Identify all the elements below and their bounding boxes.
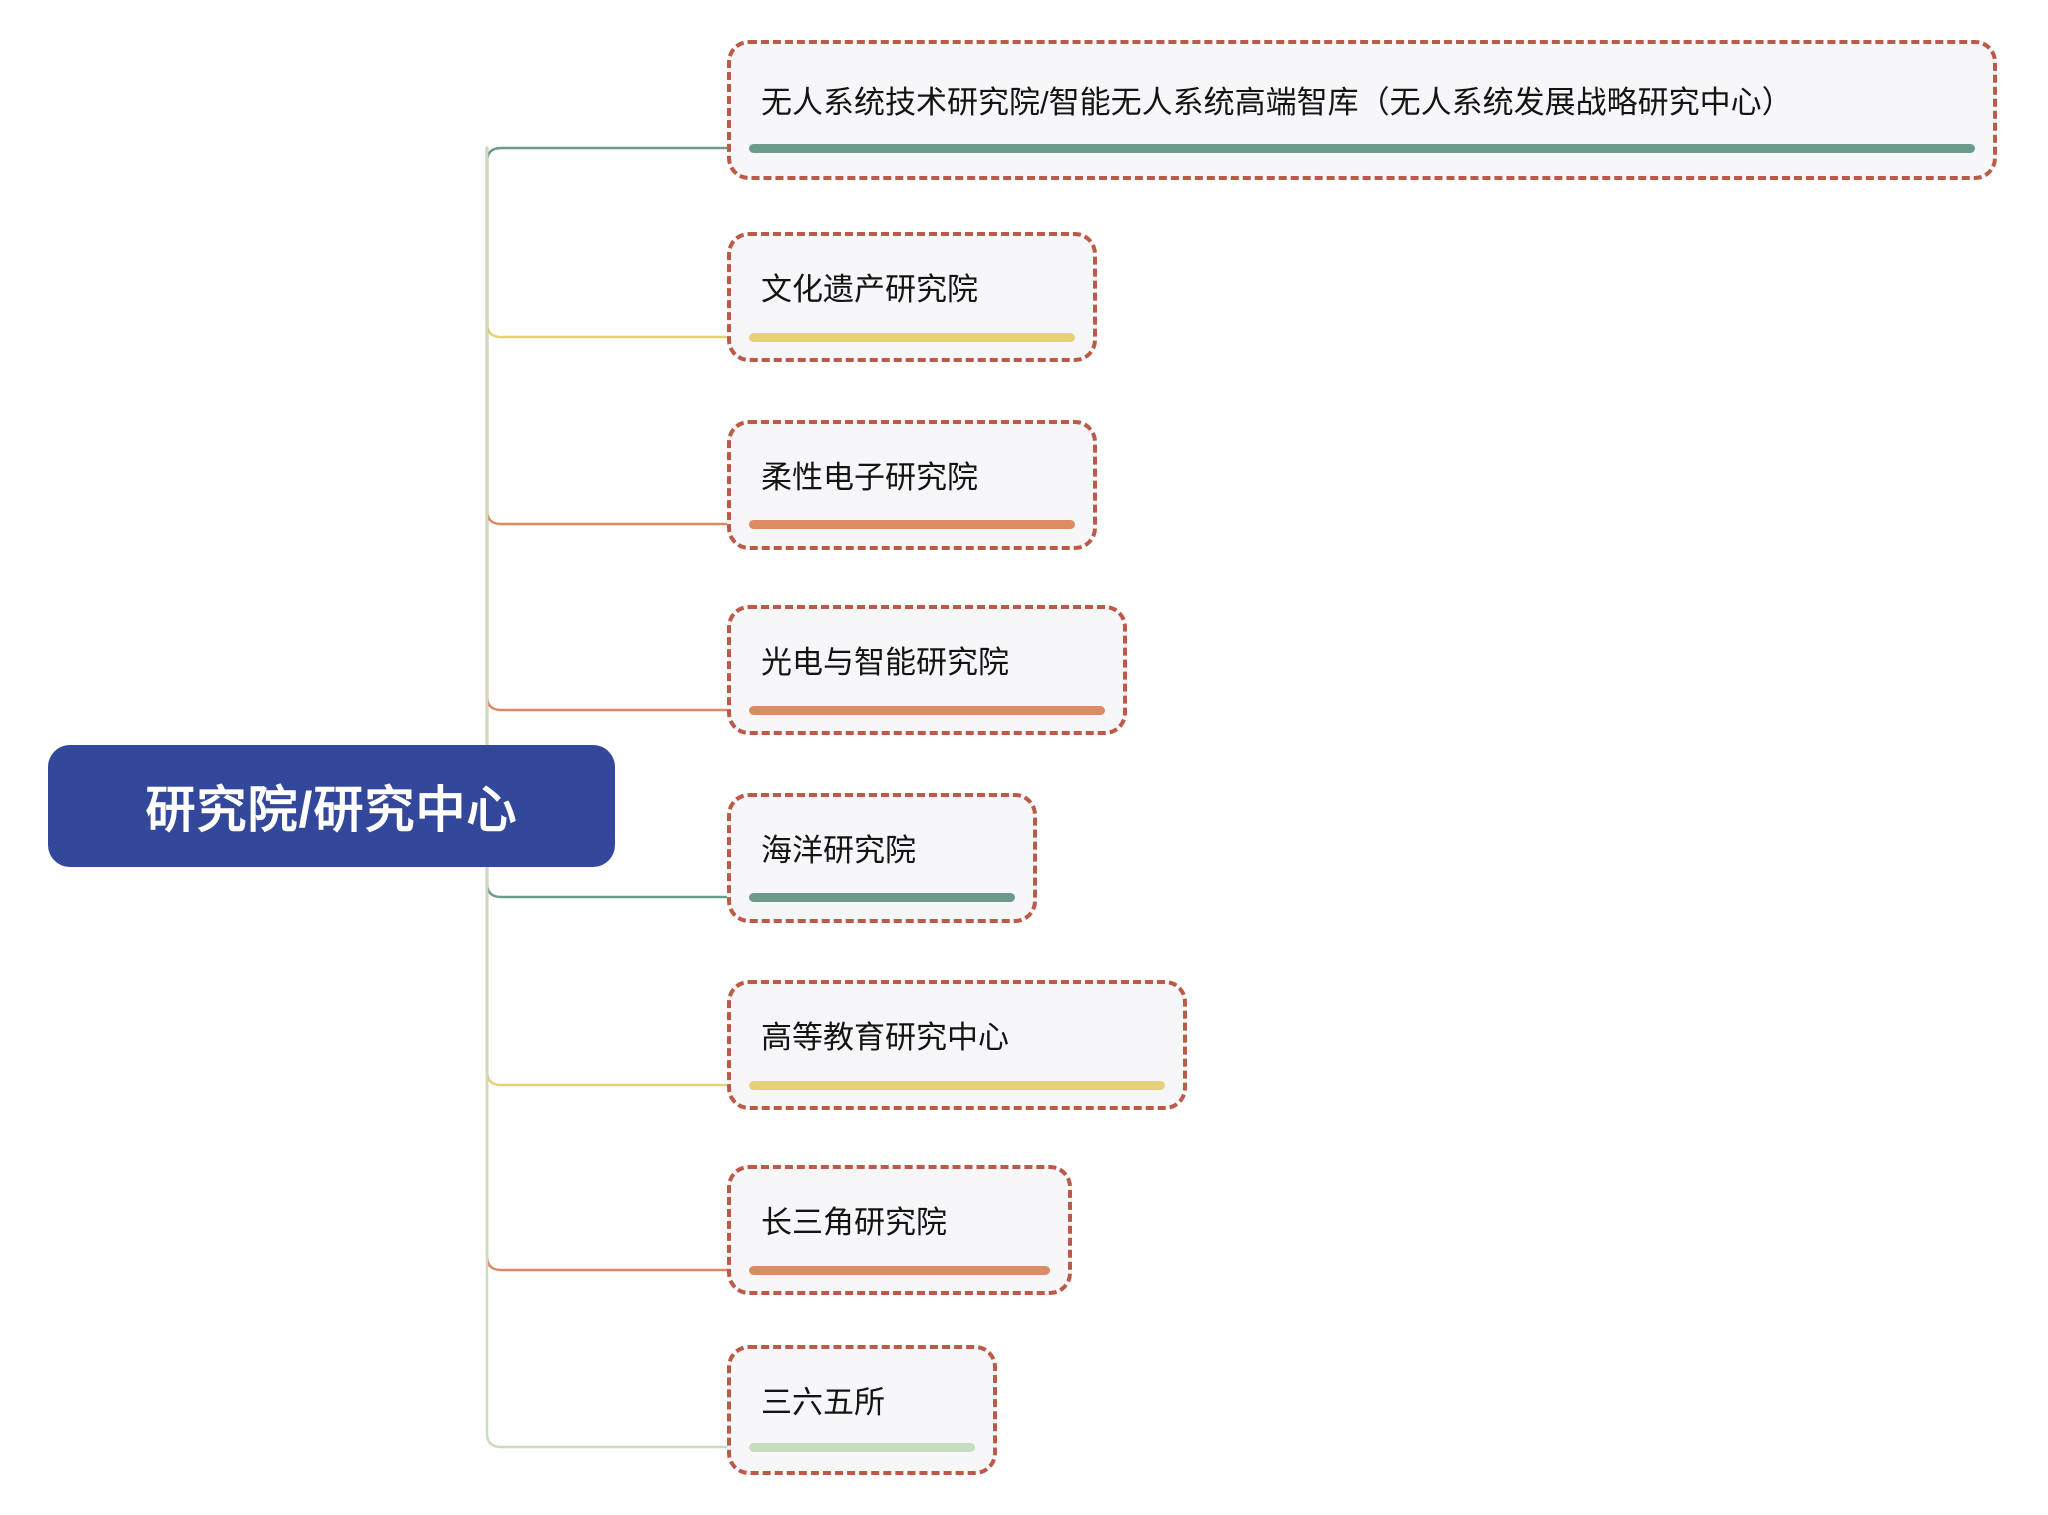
child-node-accent-bar xyxy=(749,1266,1050,1275)
child-node-institute-365[interactable]: 三六五所 xyxy=(727,1345,997,1475)
child-node-accent-bar xyxy=(749,520,1075,529)
child-node-body: 无人系统技术研究院/智能无人系统高端智库（无人系统发展战略研究中心） xyxy=(735,48,1989,172)
child-node-label: 高等教育研究中心 xyxy=(761,988,1161,1080)
connector-cultural-heritage xyxy=(487,148,755,337)
child-node-unmanned-systems[interactable]: 无人系统技术研究院/智能无人系统高端智库（无人系统发展战略研究中心） xyxy=(727,40,1997,180)
child-node-label: 无人系统技术研究院/智能无人系统高端智库（无人系统发展战略研究中心） xyxy=(761,48,1971,150)
child-node-optoelectronics-intelligence[interactable]: 光电与智能研究院 xyxy=(727,605,1127,735)
child-node-label: 海洋研究院 xyxy=(761,801,1011,893)
mindmap-canvas: 研究院/研究中心 无人系统技术研究院/智能无人系统高端智库（无人系统发展战略研究… xyxy=(0,0,2048,1515)
child-node-accent-bar xyxy=(749,333,1075,342)
connector-higher-education xyxy=(487,148,755,1085)
child-node-accent-bar xyxy=(749,144,1975,153)
connector-unmanned-systems xyxy=(487,148,755,162)
connector-yangtze-delta xyxy=(487,148,755,1270)
child-node-ocean[interactable]: 海洋研究院 xyxy=(727,793,1037,923)
child-node-label: 长三角研究院 xyxy=(761,1173,1046,1265)
child-node-accent-bar xyxy=(749,706,1105,715)
child-node-higher-education[interactable]: 高等教育研究中心 xyxy=(727,980,1187,1110)
child-node-flexible-electronics[interactable]: 柔性电子研究院 xyxy=(727,420,1097,550)
child-node-accent-bar xyxy=(749,1081,1165,1090)
child-node-label: 柔性电子研究院 xyxy=(761,428,1071,520)
child-node-label: 三六五所 xyxy=(761,1353,971,1445)
connector-optoelectronics-intelligence xyxy=(487,148,755,710)
child-node-label: 文化遗产研究院 xyxy=(761,240,1071,332)
root-node[interactable]: 研究院/研究中心 xyxy=(48,745,615,867)
child-node-label: 光电与智能研究院 xyxy=(761,613,1101,705)
root-node-label: 研究院/研究中心 xyxy=(146,770,518,842)
connector-flexible-electronics xyxy=(487,148,755,524)
child-node-yangtze-delta[interactable]: 长三角研究院 xyxy=(727,1165,1072,1295)
child-node-accent-bar xyxy=(749,1443,975,1452)
child-node-accent-bar xyxy=(749,893,1015,902)
child-node-cultural-heritage[interactable]: 文化遗产研究院 xyxy=(727,232,1097,362)
